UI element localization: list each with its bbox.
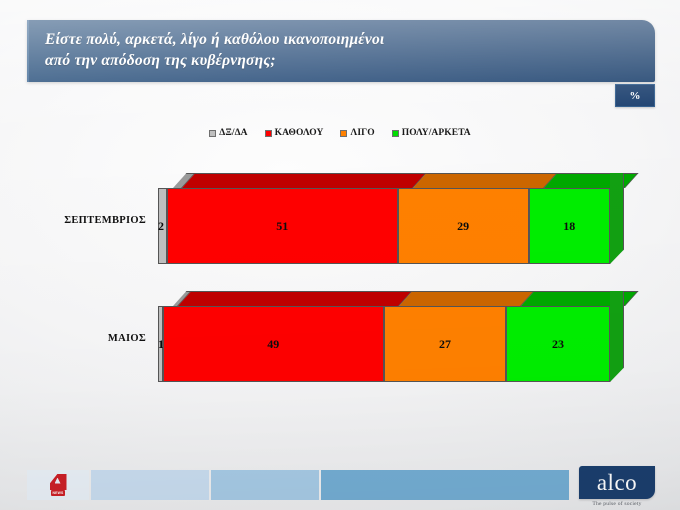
chart-legend: ΔΞ/ΔΑΚΑΘΟΛΟΥΛΙΓΟΠΟΛΥ/ΑΡΚΕΤΑ (0, 128, 680, 138)
bar-segment-value: 23 (552, 338, 564, 350)
slide-canvas: Είστε πολύ, αρκετά, λίγο ή καθόλου ικανο… (0, 0, 680, 510)
percent-unit-badge: % (615, 84, 655, 107)
title-banner: Είστε πολύ, αρκετά, λίγο ή καθόλου ικανο… (27, 20, 655, 82)
footer-block-1 (211, 470, 319, 500)
alco-logo-box: alco (579, 466, 655, 499)
bar-segment-ΚΑΘΟΛΟΥ[interactable]: 49 (163, 306, 384, 382)
footer-block-2 (321, 470, 569, 500)
bar-top-face-ΛΙΓΟ (413, 173, 558, 188)
bar-top-faces (173, 173, 625, 188)
bar-right-cap (610, 173, 624, 264)
bar-top-face-ΚΑΘΟΛΟΥ (182, 173, 426, 188)
legend-swatch-icon (209, 130, 216, 137)
bar-top-face-ΠΟΛΥ/ΑΡΚΕΤΑ (544, 173, 639, 188)
bar-segment-value: 2 (158, 220, 164, 232)
alpha-news-logo: NEWS (27, 470, 89, 500)
bar-top-faces (173, 291, 625, 306)
legend-swatch-icon (392, 130, 399, 137)
chart-row-1: ΜΑΙΟΣ1492723 (0, 288, 680, 388)
bar-segment-value: 27 (439, 338, 451, 350)
legend-swatch-icon (265, 130, 272, 137)
bar-front-faces: 1492723 (158, 306, 610, 382)
bar-segment-ΚΑΘΟΛΟΥ[interactable]: 51 (167, 188, 398, 264)
legend-label: ΔΞ/ΔΑ (219, 128, 247, 138)
category-label: ΜΑΙΟΣ (18, 288, 146, 388)
bar-segment-ΔΞ/ΔΑ[interactable]: 2 (158, 188, 167, 264)
legend-label: ΚΑΘΟΛΟΥ (275, 128, 324, 138)
legend-swatch-icon (340, 130, 347, 137)
footer-color-strip: NEWS (27, 470, 569, 500)
alco-brand-logo: alco The pulse of society (579, 466, 655, 507)
footer-block-0 (91, 470, 209, 500)
bar-front-faces: 2512918 (158, 188, 610, 264)
bar-segment-value: 29 (457, 220, 469, 232)
bar-top-face-ΛΙΓΟ (399, 291, 535, 306)
alco-wordmark: alco (597, 471, 637, 494)
legend-label: ΛΙΓΟ (350, 128, 374, 138)
bar-segment-ΛΙΓΟ[interactable]: 29 (398, 188, 529, 264)
bar-segment-value: 49 (267, 338, 279, 350)
legend-item-1[interactable]: ΚΑΘΟΛΟΥ (265, 128, 324, 138)
bar-segment-ΠΟΛΥ/ΑΡΚΕΤΑ[interactable]: 23 (506, 306, 610, 382)
stacked-bar: 1492723 (158, 306, 610, 382)
alco-tagline: The pulse of society (579, 501, 655, 507)
chart-plot-area: ΣΕΠΤΕΜΒΡΙΟΣ2512918ΜΑΙΟΣ1492723 (0, 160, 680, 410)
bar-right-cap (610, 291, 624, 382)
legend-label: ΠΟΛΥ/ΑΡΚΕΤΑ (402, 128, 471, 138)
slide-footer: NEWS alco The pulse of society (0, 458, 680, 510)
title-line-1: Είστε πολύ, αρκετά, λίγο ή καθόλου ικανο… (45, 29, 655, 50)
bar-segment-ΠΟΛΥ/ΑΡΚΕΤΑ[interactable]: 18 (529, 188, 610, 264)
legend-item-0[interactable]: ΔΞ/ΔΑ (209, 128, 247, 138)
bar-segment-value: 51 (276, 220, 288, 232)
alpha-news-word: NEWS (53, 491, 64, 495)
bar-top-face-ΚΑΘΟΛΟΥ (178, 291, 413, 306)
bar-right-cap-face (610, 173, 624, 264)
alpha-a-base: NEWS (51, 490, 65, 496)
legend-item-3[interactable]: ΠΟΛΥ/ΑΡΚΕΤΑ (392, 128, 471, 138)
bar-segment-value: 18 (563, 220, 575, 232)
category-label: ΣΕΠΤΕΜΒΡΙΟΣ (18, 170, 146, 270)
alpha-a-icon: NEWS (50, 474, 67, 496)
title-line-2: από την απόδοση της κυβέρνησης; (45, 50, 655, 71)
bar-segment-ΛΙΓΟ[interactable]: 27 (384, 306, 506, 382)
bar-right-cap-face (610, 291, 624, 382)
legend-item-2[interactable]: ΛΙΓΟ (340, 128, 374, 138)
chart-row-0: ΣΕΠΤΕΜΒΡΙΟΣ2512918 (0, 170, 680, 270)
stacked-bar: 2512918 (158, 188, 610, 264)
